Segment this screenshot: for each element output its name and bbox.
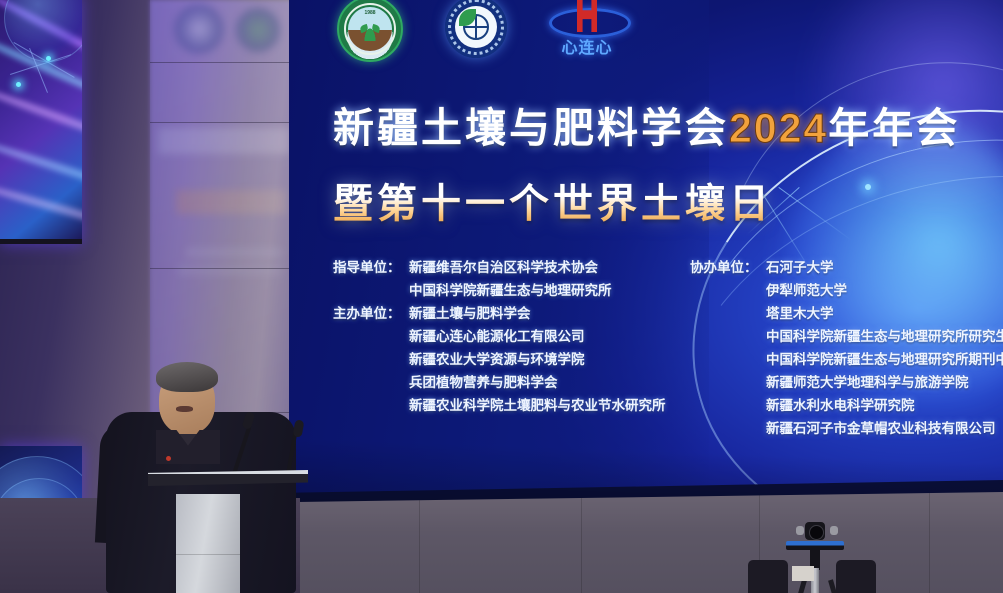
coorganizer-item: 塔里木大学 <box>766 302 1003 325</box>
organizer-list-left: 指导单位： 新疆维吾尔自治区科学技术协会 中国科学院新疆生态与地理研究所 主办单… <box>333 256 666 417</box>
coorganizer-item: 中国科学院新疆生态与地理研究所研究生教育 <box>766 325 1003 348</box>
screen-glow <box>783 114 1003 434</box>
screen-glow <box>793 0 1003 214</box>
coorganizer-item: 新疆石河子市金草帽农业科技有限公司 <box>766 417 1003 440</box>
coorganizer-item: 新疆水利水电科学研究院 <box>766 394 1003 417</box>
coorganizer-items: 石河子大学 伊犁师范大学 塔里木大学 中国科学院新疆生态与地理研究所研究生教育 … <box>766 256 1003 440</box>
event-title-block: 新疆土壤与肥料学会2024年年会 暨第十一个世界土壤日 <box>333 94 973 229</box>
title-suffix: 年年会 <box>828 105 960 151</box>
screen-swoosh <box>641 50 1003 502</box>
soil-science-emblem-icon: 1988 <box>337 0 403 62</box>
host-item: 新疆土壤与肥料学会 <box>409 302 666 325</box>
ecology-globe-emblem-icon <box>445 0 507 58</box>
host-item: 新疆心连心能源化工有限公司 <box>409 325 666 348</box>
coorganizer-item: 石河子大学 <box>766 256 1003 279</box>
host-items: 新疆土壤与肥料学会 新疆心连心能源化工有限公司 新疆农业大学资源与环境学院 兵团… <box>409 302 666 417</box>
conference-photo: 1988 心连心 新疆土壤与肥料学会2024年年会 暨第十一个世界土壤日 指导单… <box>0 0 1003 593</box>
guidance-item: 新疆维吾尔自治区科学技术协会 <box>409 256 612 279</box>
lapel-badge <box>166 456 171 461</box>
coorganizer-item: 伊犁师范大学 <box>766 279 1003 302</box>
host-item: 新疆农业科学院土壤肥料与农业节水研究所 <box>409 394 666 417</box>
title-prefix: 新疆土壤与肥料学会 <box>333 105 729 151</box>
guidance-block: 指导单位： 新疆维吾尔自治区科学技术协会 中国科学院新疆生态与地理研究所 <box>333 256 666 302</box>
coorganizer-item: 中国科学院新疆生态与地理研究所期刊中心 <box>766 348 1003 371</box>
screen-swoosh <box>632 122 1003 502</box>
screen-swoosh <box>665 2 1003 502</box>
name-card <box>792 566 814 581</box>
podium-desktop <box>148 470 308 486</box>
coorganizer-label: 协办单位： <box>690 256 766 440</box>
camera-lens-icon <box>809 525 824 540</box>
side-led-display-upper <box>0 0 82 244</box>
organizer-list-right: 协办单位： 石河子大学 伊犁师范大学 塔里木大学 中国科学院新疆生态与地理研究所… <box>690 256 1003 440</box>
guidance-items: 新疆维吾尔自治区科学技术协会 中国科学院新疆生态与地理研究所 <box>409 256 612 302</box>
host-item: 兵团植物营养与肥料学会 <box>409 371 666 394</box>
host-item: 新疆农业大学资源与环境学院 <box>409 348 666 371</box>
podium <box>148 470 308 593</box>
xinlianxin-logo-text: 心连心 <box>547 34 627 58</box>
guidance-label: 指导单位： <box>333 256 409 302</box>
title-year: 2024 <box>729 105 828 151</box>
logo-row: 1988 心连心 <box>337 0 627 58</box>
network-node-icon <box>865 184 871 190</box>
stage-apron <box>289 492 1003 593</box>
network-line <box>747 187 800 235</box>
emblem-year-text: 1988 <box>364 10 375 16</box>
podium-column <box>176 494 240 593</box>
network-line <box>758 187 817 281</box>
guidance-item: 中国科学院新疆生态与地理研究所 <box>409 279 612 302</box>
network-line <box>778 187 851 241</box>
coorganizer-block: 协办单位： 石河子大学 伊犁师范大学 塔里木大学 中国科学院新疆生态与地理研究所… <box>690 256 1003 440</box>
coorganizer-item: 新疆师范大学地理科学与旅游学院 <box>766 371 1003 394</box>
xinlianxin-logo-icon: 心连心 <box>547 0 627 58</box>
event-title-line1: 新疆土壤与肥料学会2024年年会 <box>333 94 973 154</box>
event-title-line2: 暨第十一个世界土壤日 <box>333 171 973 229</box>
seat-back <box>836 560 876 593</box>
screen-dark-field <box>289 0 709 502</box>
screen-swoosh <box>637 82 1003 502</box>
host-block: 主办单位： 新疆土壤与肥料学会 新疆心连心能源化工有限公司 新疆农业大学资源与环… <box>333 302 666 417</box>
main-led-screen: 1988 心连心 新疆土壤与肥料学会2024年年会 暨第十一个世界土壤日 指导单… <box>289 0 1003 502</box>
host-label: 主办单位： <box>333 302 409 417</box>
seat-back <box>748 560 788 593</box>
